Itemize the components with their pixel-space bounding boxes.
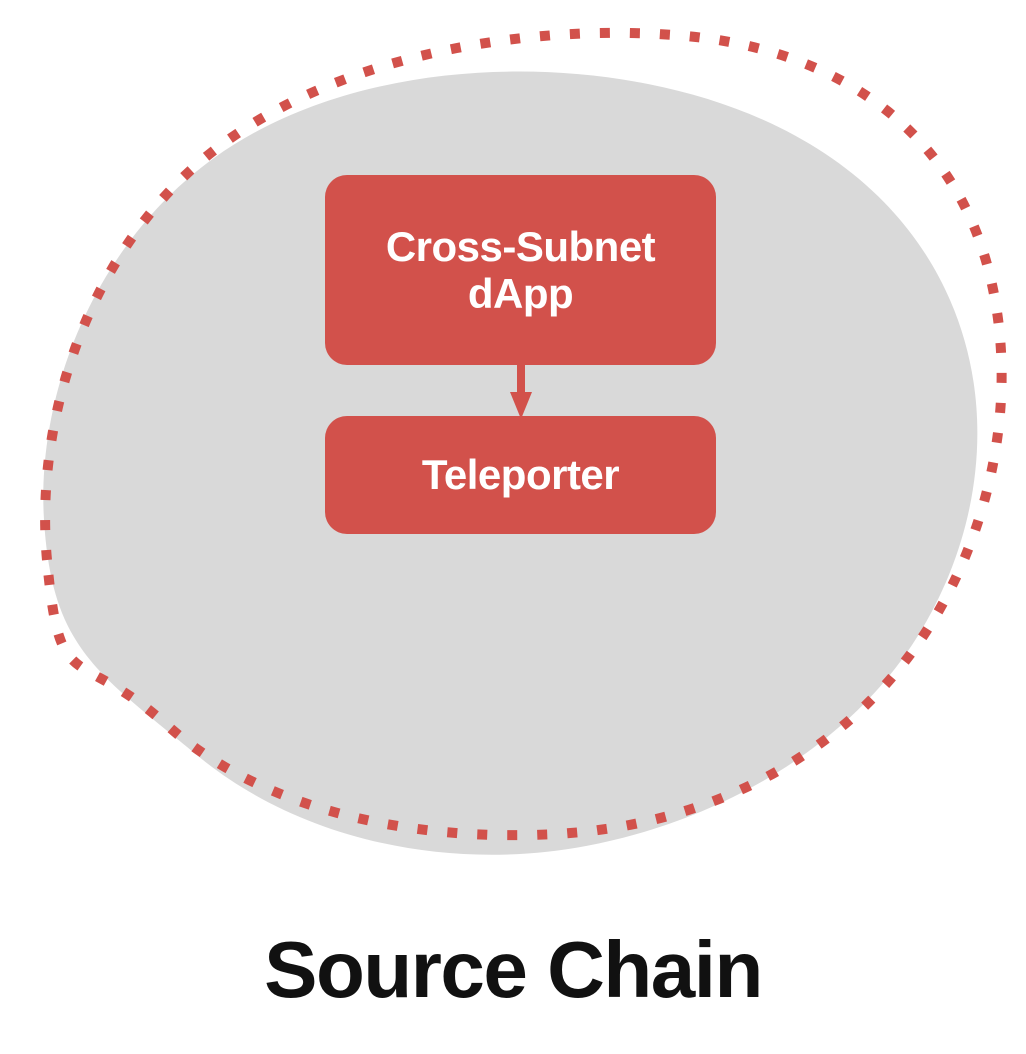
node-teleporter-label: Teleporter [343, 451, 698, 498]
diagram-caption: Source Chain [0, 928, 1026, 1012]
node-teleporter[interactable]: Teleporter [325, 416, 716, 534]
arrow-dapp-to-teleporter-icon [496, 362, 546, 420]
node-cross-subnet-dapp[interactable]: Cross-Subnet dApp [325, 175, 716, 365]
node-cross-subnet-dapp-label: Cross-Subnet dApp [343, 223, 698, 317]
diagram-canvas: Cross-Subnet dApp Teleporter Source Chai… [0, 0, 1026, 1054]
